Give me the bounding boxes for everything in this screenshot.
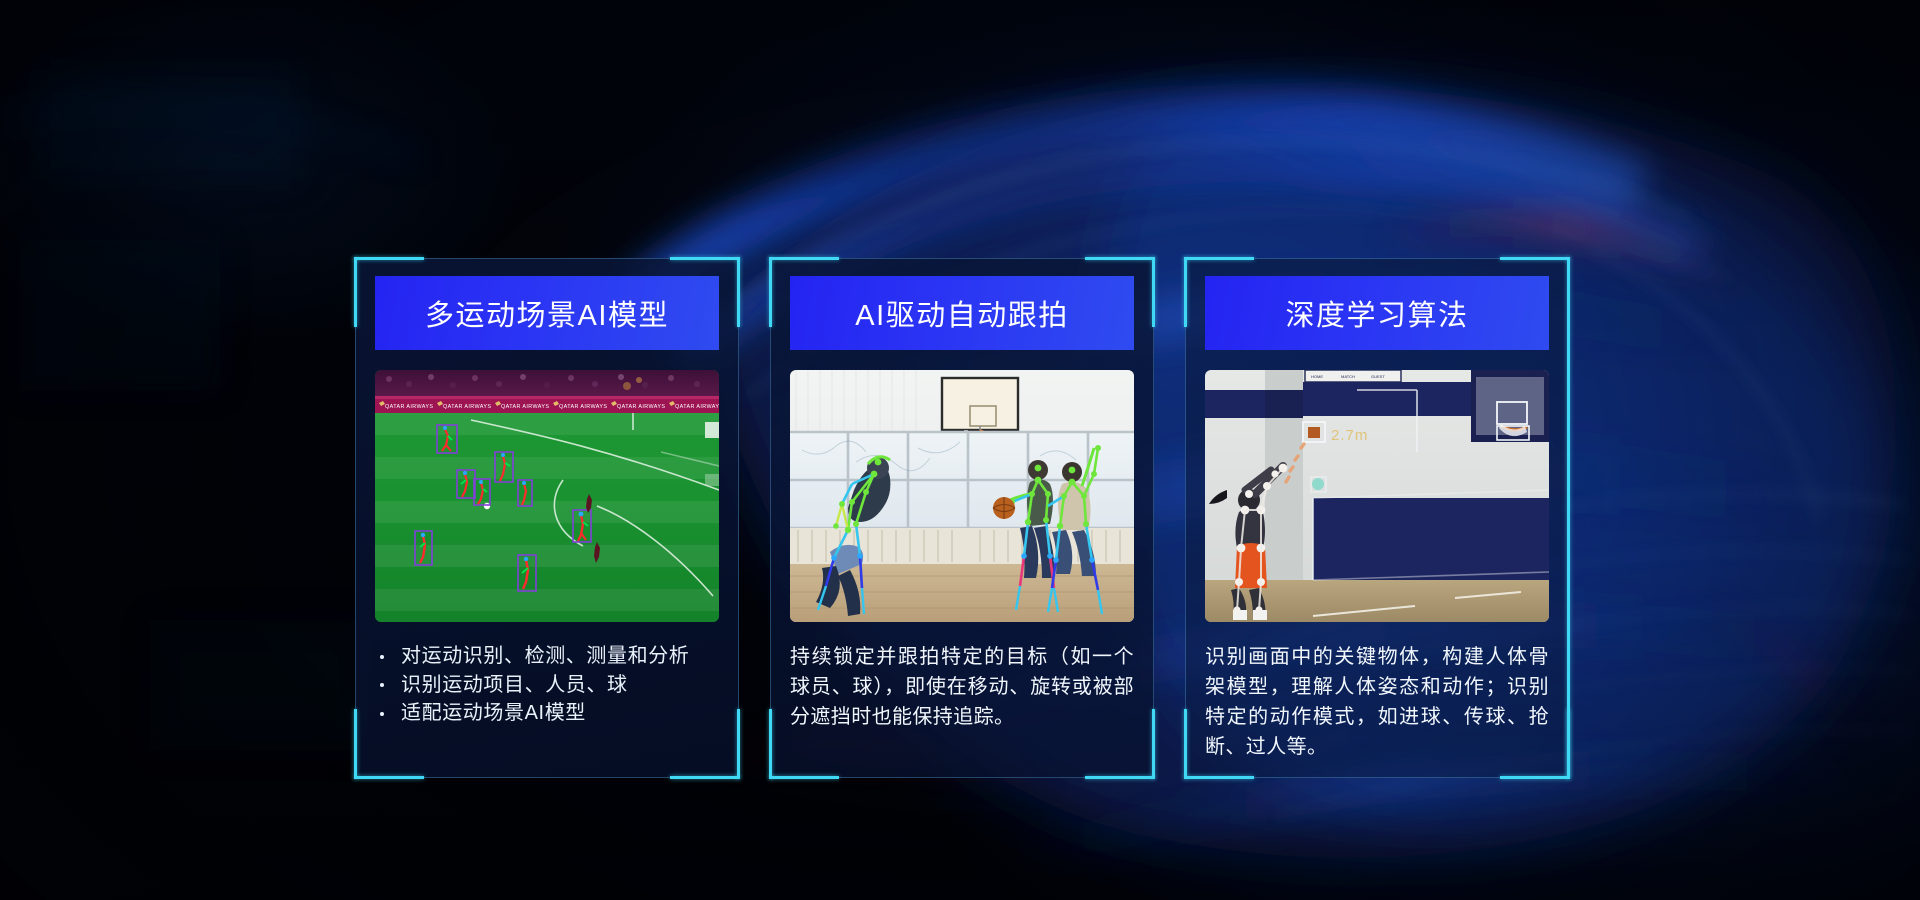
card-inner: AI驱动自动跟拍 <box>770 258 1154 778</box>
svg-text:HOME: HOME <box>1311 374 1323 379</box>
card-title: 多运动场景AI模型 <box>375 276 719 350</box>
card-inner: 多运动场景AI模型 <box>355 258 739 778</box>
feature-bullet-list: 对运动识别、检测、测量和分析 识别运动项目、人员、球 适配运动场景AI模型 <box>375 642 719 728</box>
card-inner: 深度学习算法 <box>1185 258 1569 778</box>
card-description: 持续锁定并跟拍特定的目标（如一个球员、球），即使在移动、旋转或被部分遮挡时也能保… <box>790 642 1134 732</box>
feature-card-grid: 多运动场景AI模型 <box>355 258 1570 778</box>
card-media-basketball-shot-trajectory: HOMEMATCHGUEST <box>1205 370 1549 622</box>
page-root: 多运动场景AI模型 <box>0 0 1920 900</box>
svg-text:QATAR AIRWAYS: QATAR AIRWAYS <box>559 404 607 410</box>
svg-text:QATAR AIRWAYS: QATAR AIRWAYS <box>385 404 433 410</box>
list-item: 适配运动场景AI模型 <box>375 699 719 728</box>
svg-text:MATCH: MATCH <box>1341 374 1355 379</box>
feature-card-multi-sport-ai-model[interactable]: 多运动场景AI模型 <box>355 258 739 778</box>
card-body: 对运动识别、检测、测量和分析 识别运动项目、人员、球 适配运动场景AI模型 <box>375 642 719 778</box>
card-body: 识别画面中的关键物体，构建人体骨架模型，理解人体姿态和动作；识别特定的动作模式，… <box>1205 642 1549 778</box>
card-body: 持续锁定并跟拍特定的目标（如一个球员、球），即使在移动、旋转或被部分遮挡时也能保… <box>790 642 1134 778</box>
card-media-soccer-pose-detection: QATAR AIRWAYS QATAR AIRWAYS QATAR AIRWAY… <box>375 370 719 622</box>
svg-text:QATAR AIRWAYS: QATAR AIRWAYS <box>443 404 491 410</box>
card-media-basketball-skeleton-gym <box>790 370 1134 622</box>
card-title: AI驱动自动跟拍 <box>790 276 1134 350</box>
feature-card-deep-learning-algorithm[interactable]: 深度学习算法 <box>1185 258 1569 778</box>
card-description: 识别画面中的关键物体，构建人体骨架模型，理解人体姿态和动作；识别特定的动作模式，… <box>1205 642 1549 762</box>
svg-text:QATAR AIRWAYS: QATAR AIRWAYS <box>617 404 665 410</box>
list-item: 对运动识别、检测、测量和分析 <box>375 642 719 671</box>
feature-card-ai-auto-tracking[interactable]: AI驱动自动跟拍 <box>770 258 1154 778</box>
card-title: 深度学习算法 <box>1205 276 1549 350</box>
svg-text:2.7m: 2.7m <box>1331 427 1368 444</box>
svg-text:GUEST: GUEST <box>1371 374 1385 379</box>
svg-text:QATAR AIRWAYS: QATAR AIRWAYS <box>501 404 549 410</box>
svg-text:QATAR AIRWAYS: QATAR AIRWAYS <box>675 404 719 410</box>
list-item: 识别运动项目、人员、球 <box>375 671 719 700</box>
